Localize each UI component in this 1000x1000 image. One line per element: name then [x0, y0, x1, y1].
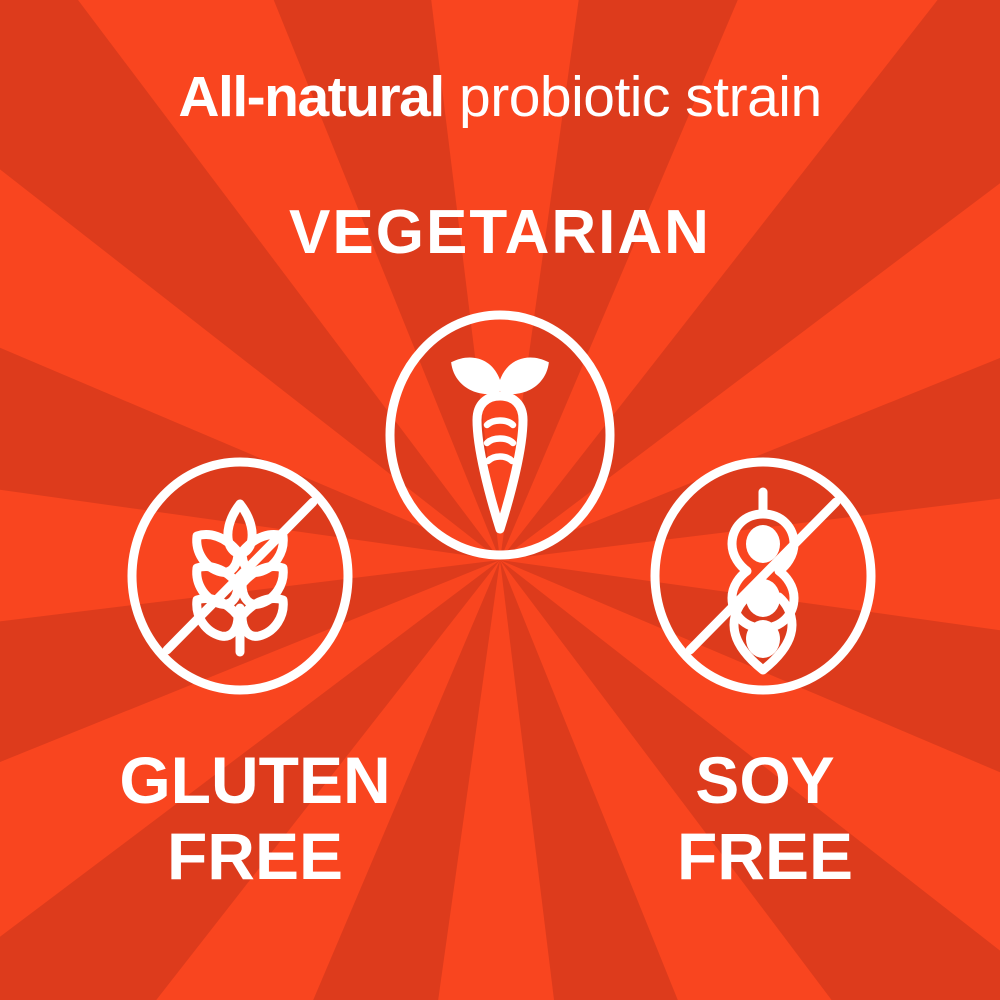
gluten-free-line1: GLUTEN [20, 742, 490, 818]
page-title: All-natural probiotic strain [0, 62, 1000, 132]
gluten-free-label: GLUTEN FREE [20, 742, 490, 894]
vegetarian-label: VEGETARIAN [0, 196, 1000, 270]
no-wheat-icon [125, 456, 355, 696]
no-soy-icon [648, 456, 878, 696]
gluten-free-line2: FREE [20, 818, 490, 894]
carrot-icon [383, 308, 617, 562]
soy-free-line1: SOY [540, 742, 990, 818]
soy-free-label: SOY FREE [540, 742, 990, 894]
headline-light: probiotic strain [444, 65, 822, 129]
soy-free-line2: FREE [540, 818, 990, 894]
product-claims-graphic: All-natural probiotic strain VEGETARIAN [0, 0, 1000, 1000]
headline-bold: All-natural [178, 65, 443, 129]
